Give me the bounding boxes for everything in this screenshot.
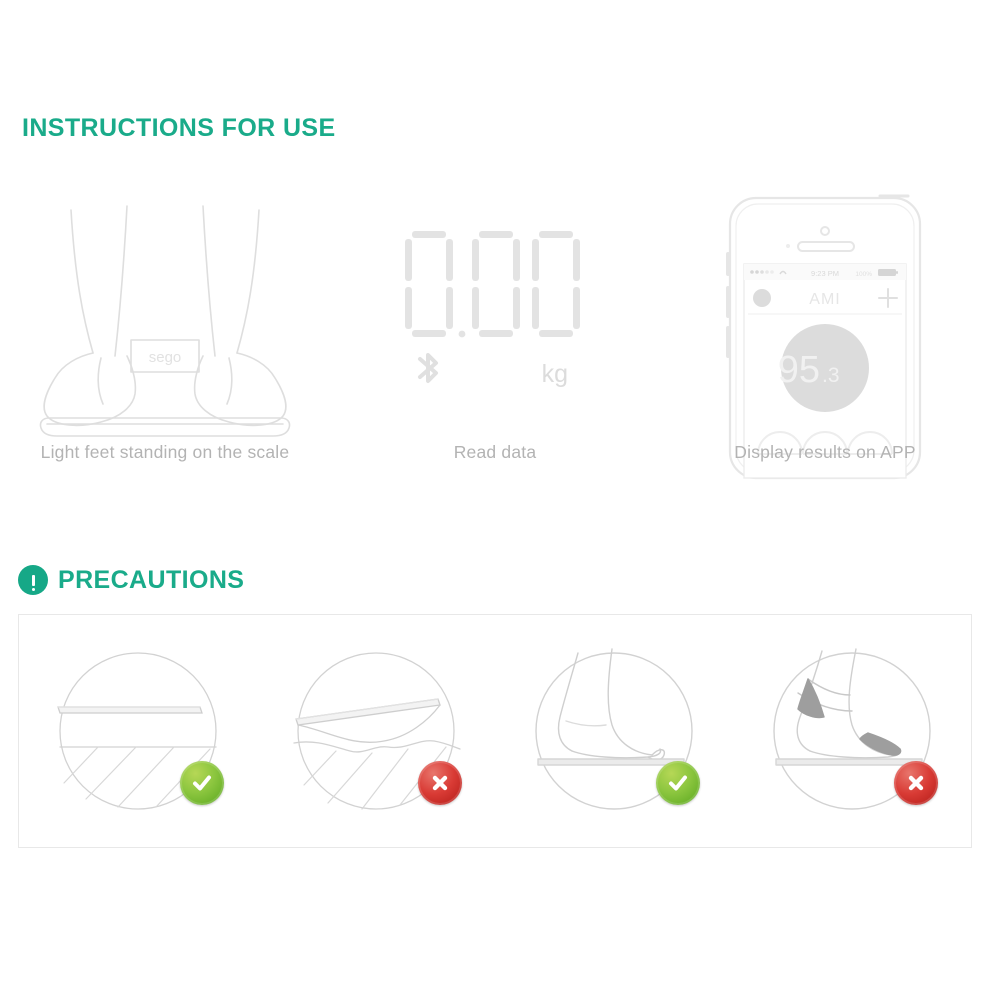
precaution-item-1 [19, 643, 257, 819]
exclamation-circle-icon [18, 565, 48, 595]
phone-status-bar: 9:23 PM 100% [744, 264, 906, 280]
precaution-item-4 [733, 643, 971, 819]
check-circle-icon [656, 761, 700, 805]
instruction-step-1: sego Light feet standing on the scale [0, 185, 330, 485]
precautions-header: PRECAUTIONS [18, 565, 244, 595]
lcd-decimal-point [459, 331, 466, 338]
scale-on-soft-uneven-floor-illustration [288, 643, 464, 819]
page-title: INSTRUCTIONS FOR USE [22, 114, 336, 143]
socked-foot-on-scale-illustration [764, 643, 940, 819]
lcd-digit-2 [472, 231, 520, 337]
weight-whole-value: 95 [778, 349, 820, 391]
bare-foot-on-scale-illustration [526, 643, 702, 819]
instruction-step-3: 9:23 PM 100% AMI [660, 185, 990, 485]
phone-battery-label: 100% [855, 271, 872, 278]
feet-on-scale-illustration: sego [0, 185, 330, 440]
precautions-title: PRECAUTIONS [58, 566, 244, 595]
phone-status-time: 9:23 PM [811, 269, 839, 278]
cross-circle-icon [894, 761, 938, 805]
precaution-item-2 [257, 643, 495, 819]
scale-on-hard-flat-floor-illustration [50, 643, 226, 819]
instruction-steps: sego Light feet standing on the scale [0, 185, 990, 485]
instruction-sheet: INSTRUCTIONS FOR USE [0, 0, 990, 990]
precaution-item-3 [495, 643, 733, 819]
smartphone-app-illustration: 9:23 PM 100% AMI [660, 185, 990, 440]
scale-brand-label: sego [149, 349, 182, 366]
instruction-step-2-caption: Read data [454, 442, 537, 463]
lcd-unit-label: kg [542, 360, 568, 388]
instruction-step-1-caption: Light feet standing on the scale [41, 442, 290, 463]
instruction-step-3-caption: Display results on APP [734, 442, 915, 463]
precautions-panel [18, 614, 972, 848]
lcd-digit-3 [532, 231, 580, 337]
bluetooth-icon [420, 355, 436, 381]
app-name-label: AMI [809, 291, 840, 308]
lcd-digit-1 [405, 231, 453, 337]
cross-circle-icon [418, 761, 462, 805]
check-circle-icon [180, 761, 224, 805]
weight-decimal-value: .3 [822, 364, 840, 387]
avatar [753, 289, 771, 307]
lcd-display-illustration: kg [330, 185, 660, 440]
instruction-step-2: kg Read data [330, 185, 660, 485]
